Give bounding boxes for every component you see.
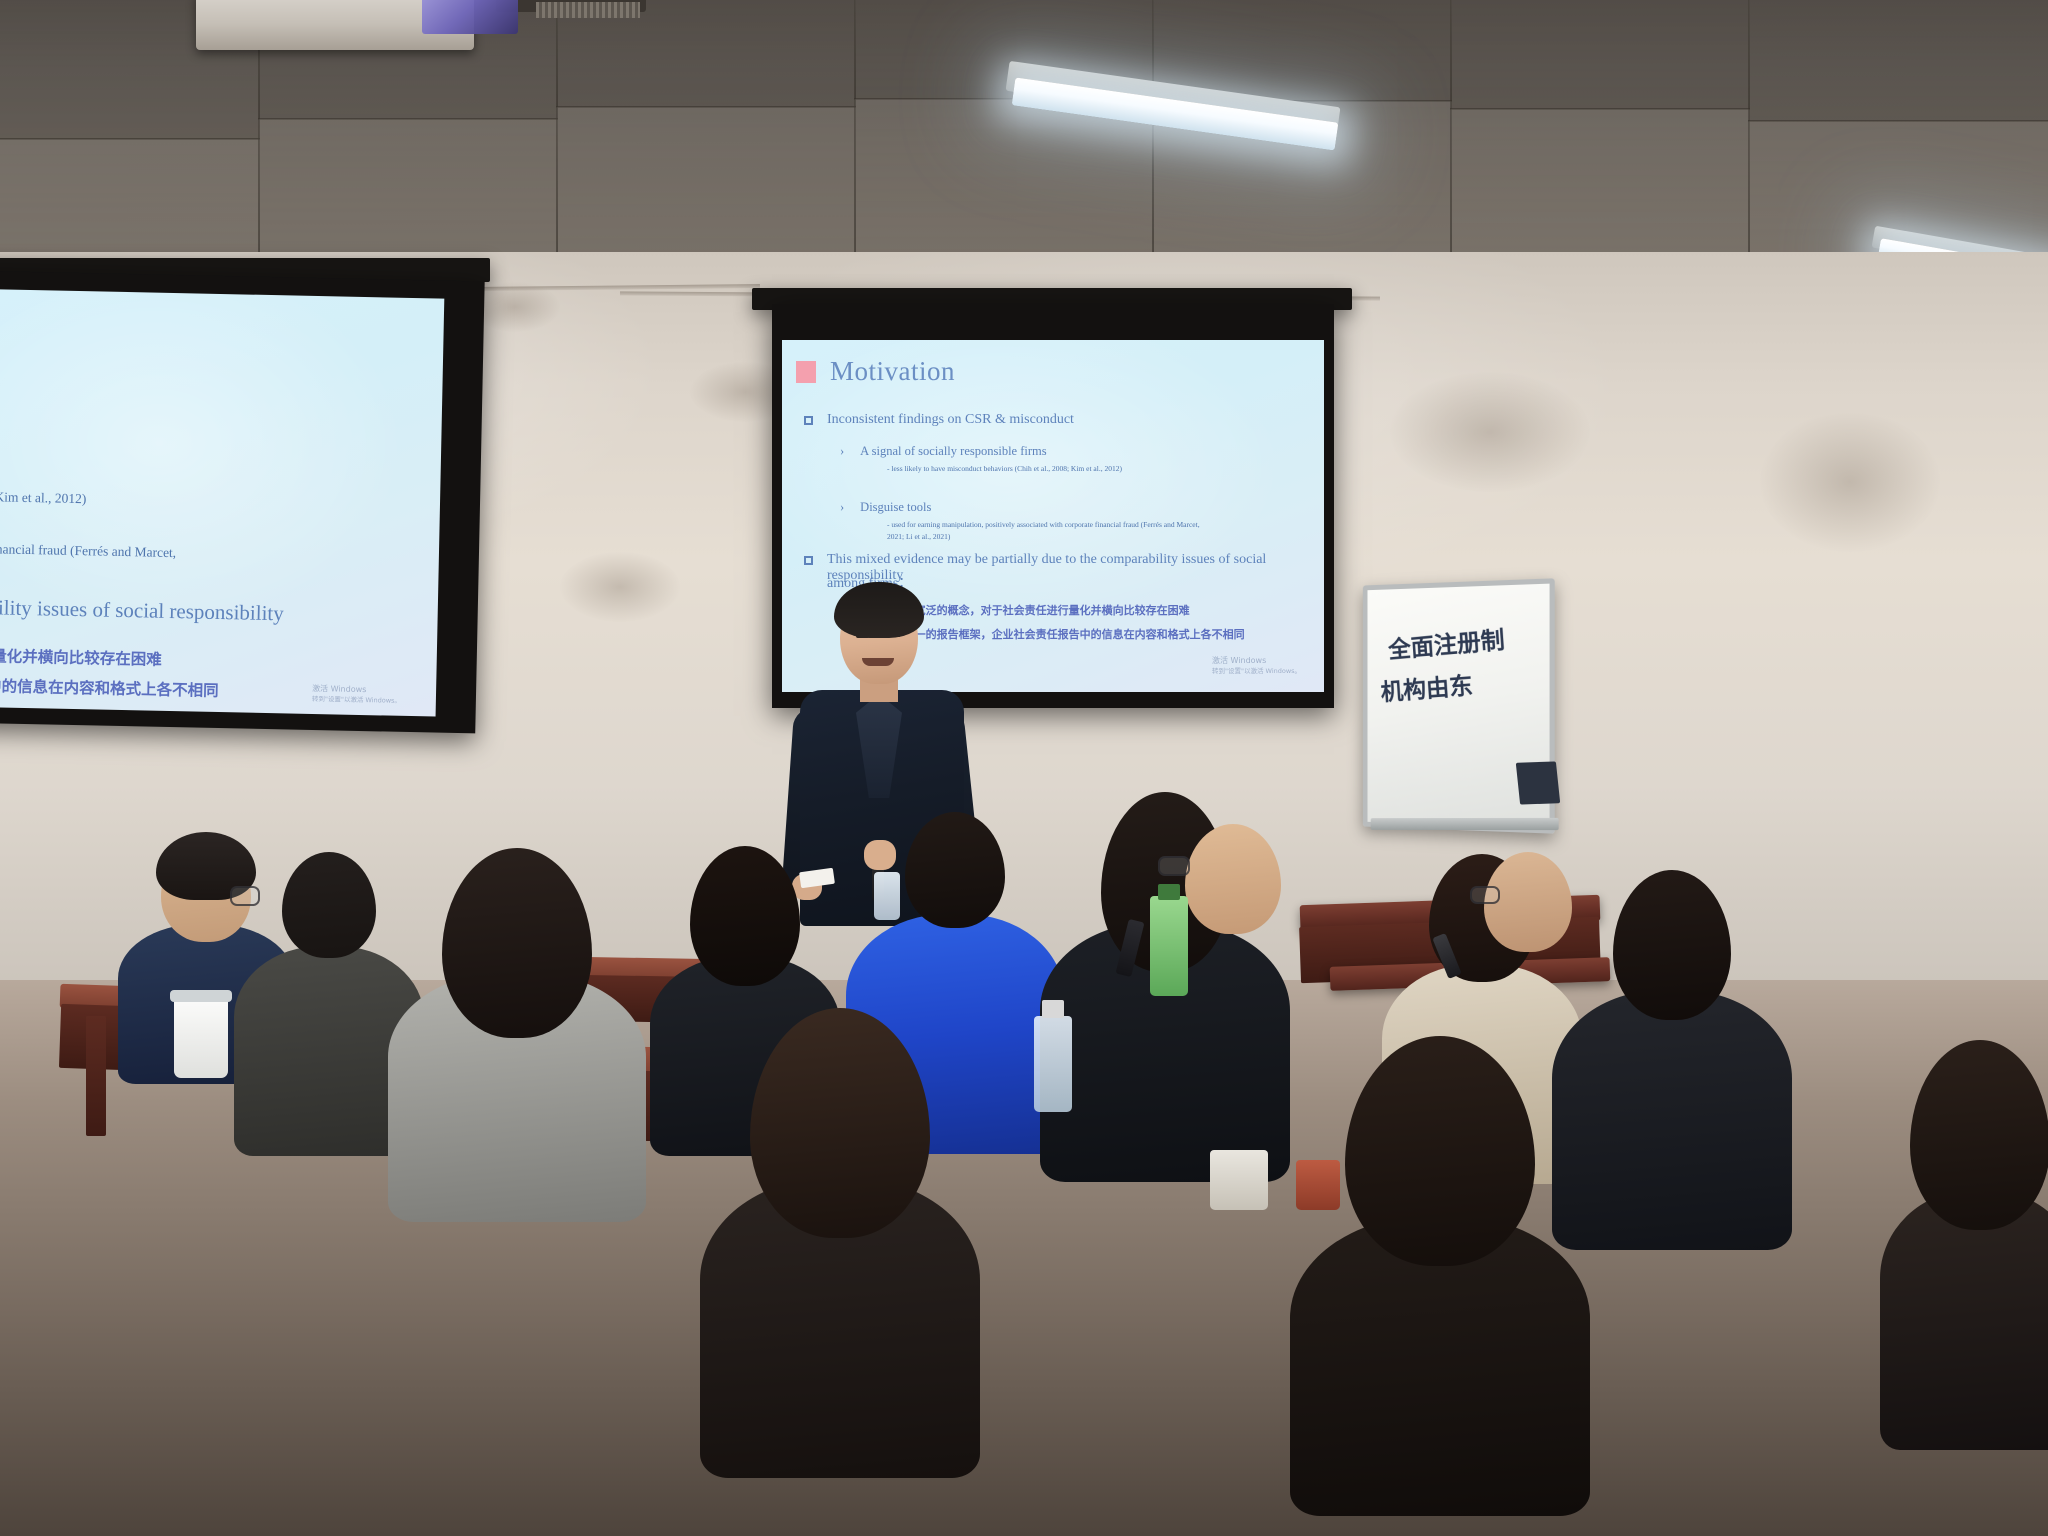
- whiteboard-ink-line-2: 机构由东: [1379, 666, 1473, 708]
- green-bottle: [1150, 896, 1188, 996]
- slide-bullet-1-text: Inconsistent findings on CSR & misconduc…: [827, 412, 1074, 428]
- left-slide-line-3: nduct behaviors (Chih et al., 2008; Kim …: [0, 485, 87, 507]
- left-slide-surface: misconduct e firms nduct behaviors (Chih…: [0, 288, 444, 716]
- attendee-front-center-head: [750, 1008, 930, 1238]
- attendee-2-head: [282, 852, 376, 958]
- left-slide-line-4: lation, positively associated with corpo…: [0, 536, 176, 561]
- slide-bullet-1-2-text: Disguise tools: [860, 500, 931, 515]
- attendee-3-head: [442, 848, 592, 1038]
- water-bottle-1-cap: [1042, 1000, 1064, 1018]
- left-projection-screen: misconduct e firms nduct behaviors (Chih…: [0, 271, 485, 734]
- water-bottle-1: [1034, 1016, 1072, 1112]
- chevron-right-icon: ›: [840, 444, 844, 459]
- whiteboard-ink-line-1: 全面注册制: [1387, 620, 1506, 665]
- attendee-5-head: [905, 812, 1005, 928]
- water-bottle-2: [874, 872, 900, 920]
- attendee-front-center: [700, 1008, 980, 1368]
- ceiling-projector: [196, 0, 474, 50]
- whiteboard-corner-shadow: [1516, 761, 1560, 804]
- slide-bullet-1-2: › Disguise tools: [840, 500, 931, 515]
- attendee-front-right-head: [1345, 1036, 1535, 1266]
- attendee-far-right: [1880, 1040, 2048, 1360]
- attendee-front-right: [1290, 1036, 1590, 1396]
- left-slide-watermark: 激活 Windows 转到"设置"以激活 Windows。: [312, 684, 401, 705]
- slide-bullet-1: Inconsistent findings on CSR & misconduc…: [804, 412, 1074, 428]
- projector-lens-icon: [422, 0, 518, 34]
- left-watermark-line-2: 转到"设置"以激活 Windows。: [312, 695, 401, 706]
- desk-left-leg: [86, 1016, 106, 1136]
- lecture-room-photo: misconduct e firms nduct behaviors (Chih…: [0, 0, 2048, 1536]
- slide-title: Motivation: [830, 356, 955, 387]
- left-slide-line-5: rtially due to the comparability issues …: [0, 591, 284, 627]
- slide-bullet-1-1: › A signal of socially responsible firms: [840, 444, 1047, 459]
- title-accent-square-icon: [796, 361, 816, 383]
- right-slide-watermark: 激活 Windows 转到"设置"以激活 Windows。: [1212, 656, 1301, 676]
- chevron-right-icon: ›: [840, 500, 844, 515]
- slide-title-row: Motivation: [796, 356, 955, 387]
- front-cup: [1210, 1150, 1268, 1210]
- left-slide-cn-line-2: 告框架，企业社会责任报告中的信息在内容和格式上各不相同: [0, 670, 219, 701]
- slide-bullet-1-1-text: A signal of socially responsible firms: [860, 444, 1046, 459]
- square-bullet-icon: [804, 556, 813, 565]
- attendee-far-right-head: [1910, 1040, 2048, 1230]
- square-bullet-icon: [804, 416, 813, 425]
- paper-cup: [174, 994, 228, 1078]
- right-watermark-line-2: 转到"设置"以激活 Windows。: [1212, 667, 1301, 676]
- paper-cup-lid: [170, 990, 232, 1002]
- attendee-7-glasses-icon: [1158, 856, 1190, 876]
- presenter-mouth: [862, 658, 894, 666]
- left-slide-cn-line-1: 概念，对于社会责任进行量化并横向比较存在困难: [0, 641, 162, 670]
- slide-bullet-1-2-note2: 2021; Li et al., 2021): [887, 532, 950, 541]
- green-bottle-cap: [1158, 884, 1180, 900]
- right-watermark-line-1: 激活 Windows: [1212, 656, 1301, 667]
- presenter-hair: [834, 582, 924, 638]
- whiteboard-tray: [1371, 818, 1559, 830]
- attendee-4-head: [690, 846, 800, 986]
- slide-bullet-1-1-note: - less likely to have misconduct behavio…: [887, 464, 1122, 473]
- attendee-9-glasses-icon: [1470, 886, 1500, 904]
- slide-bullet-1-2-note: - used for earning manipulation, positiv…: [887, 520, 1200, 529]
- attendee-7-head: [1185, 824, 1281, 934]
- attendee-10-head: [1613, 870, 1731, 1020]
- attendee-3: [388, 842, 646, 1172]
- projector-vent: [536, 2, 640, 18]
- front-small-object: [1296, 1160, 1340, 1210]
